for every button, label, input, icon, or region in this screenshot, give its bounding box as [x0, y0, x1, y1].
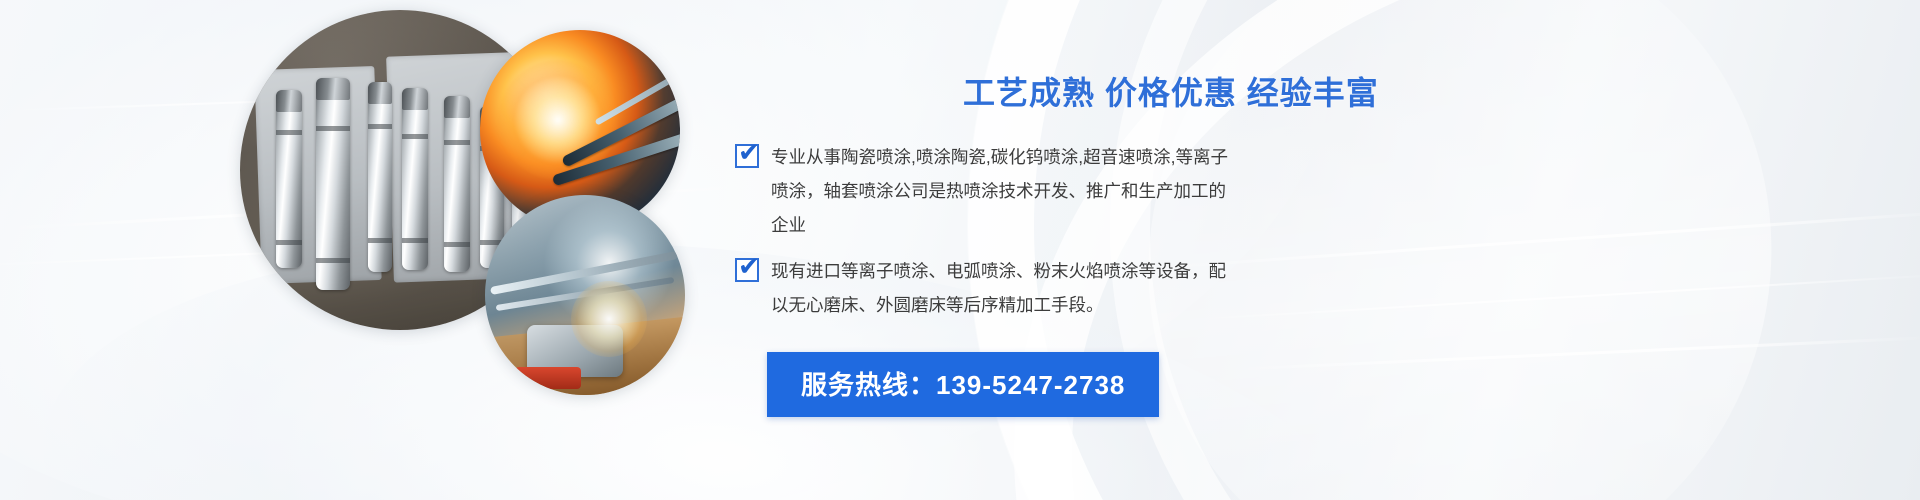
shaft-band — [368, 124, 392, 129]
promo-banner: 工艺成熟 价格优惠 经验丰富 ✔ 专业从事陶瓷喷涂,喷涂陶瓷,碳化钨喷涂,超音速… — [0, 0, 1920, 500]
shaft-band — [444, 140, 470, 145]
feature-text: 现有进口等离子喷涂、电弧喷涂、粉末火焰喷涂等设备，配以无心磨床、外圆磨床等后序精… — [771, 254, 1241, 322]
shaft-cap — [444, 96, 470, 118]
grinder-base — [515, 367, 581, 389]
grinding-machine-photo — [485, 195, 685, 395]
photo-cluster — [230, 0, 700, 400]
list-item: ✔ 现有进口等离子喷涂、电弧喷涂、粉末火焰喷涂等设备，配以无心磨床、外圆磨床等后… — [735, 254, 1495, 322]
shaft-band — [276, 240, 302, 245]
shaft-band — [368, 238, 392, 243]
shaft-cap — [276, 90, 302, 112]
feature-list: ✔ 专业从事陶瓷喷涂,喷涂陶瓷,碳化钨喷涂,超音速喷涂,等离子喷涂，轴套喷涂公司… — [735, 140, 1495, 322]
shaft-band — [276, 130, 302, 135]
coated-shaft — [276, 90, 302, 268]
spark-glow — [571, 281, 647, 357]
shaft-cap — [402, 88, 428, 110]
coated-shaft — [402, 88, 428, 270]
metal-bar — [490, 251, 678, 295]
shaft-cap — [316, 78, 350, 100]
coated-shaft — [316, 78, 350, 290]
shaft-band — [402, 238, 428, 243]
shaft-band — [402, 134, 428, 139]
banner-content: 工艺成熟 价格优惠 经验丰富 ✔ 专业从事陶瓷喷涂,喷涂陶瓷,碳化钨喷涂,超音速… — [735, 68, 1495, 417]
check-mark-icon: ✔ — [735, 258, 759, 282]
list-item: ✔ 专业从事陶瓷喷涂,喷涂陶瓷,碳化钨喷涂,超音速喷涂,等离子喷涂，轴套喷涂公司… — [735, 140, 1495, 242]
coated-shaft — [368, 82, 392, 272]
shaft-band — [316, 258, 350, 263]
check-tick-glyph: ✔ — [738, 253, 764, 279]
shaft-band — [444, 242, 470, 247]
hotline-button[interactable]: 服务热线：139-5247-2738 — [767, 352, 1159, 417]
feature-text: 专业从事陶瓷喷涂,喷涂陶瓷,碳化钨喷涂,超音速喷涂,等离子喷涂，轴套喷涂公司是热… — [771, 140, 1241, 242]
coated-shaft — [444, 96, 470, 272]
shaft-band — [316, 126, 350, 131]
check-tick-glyph: ✔ — [738, 139, 764, 165]
shaft-cap — [368, 82, 392, 104]
check-mark-icon: ✔ — [735, 144, 759, 168]
page-title: 工艺成熟 价格优惠 经验丰富 — [963, 68, 1495, 114]
